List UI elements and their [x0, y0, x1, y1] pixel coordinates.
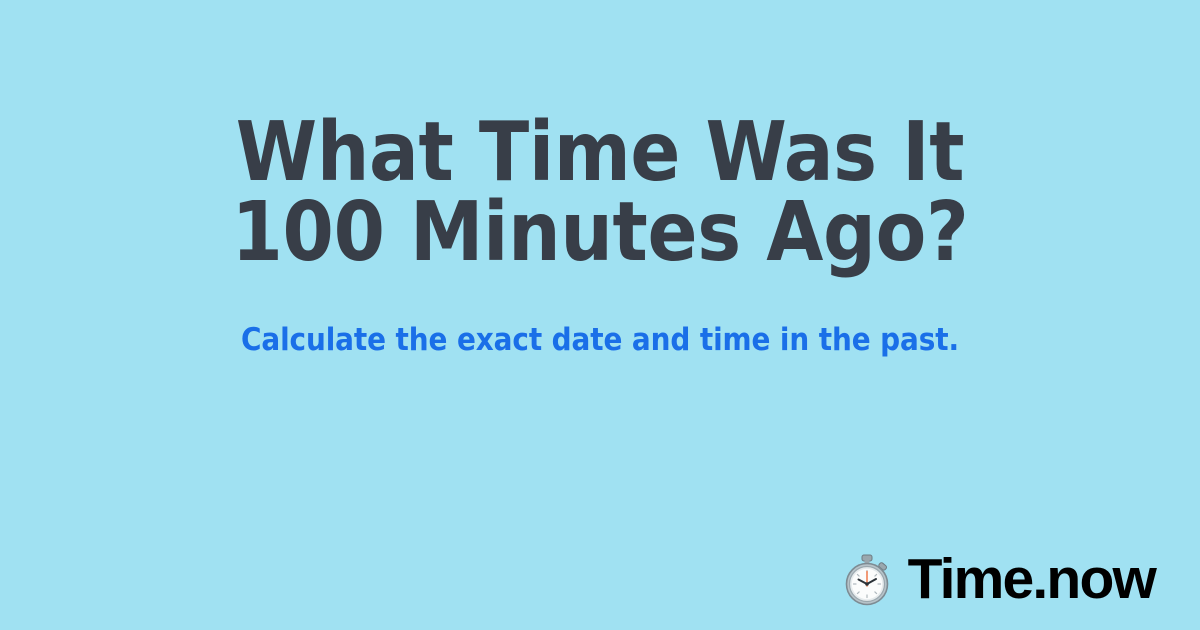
hero-section: What Time Was It 100 Minutes Ago? Calcul…	[0, 0, 1200, 470]
page-title: What Time Was It 100 Minutes Ago?	[232, 113, 969, 273]
page-title-line-1: What Time Was It	[232, 113, 969, 193]
stopwatch-icon	[840, 553, 894, 607]
page-subtitle: Calculate the exact date and time in the…	[241, 323, 959, 357]
og-share-card: What Time Was It 100 Minutes Ago? Calcul…	[0, 0, 1200, 630]
brand-lockup: Time.now	[840, 551, 1155, 608]
page-title-line-2: 100 Minutes Ago?	[232, 193, 969, 273]
brand-name: Time.now	[908, 551, 1155, 608]
